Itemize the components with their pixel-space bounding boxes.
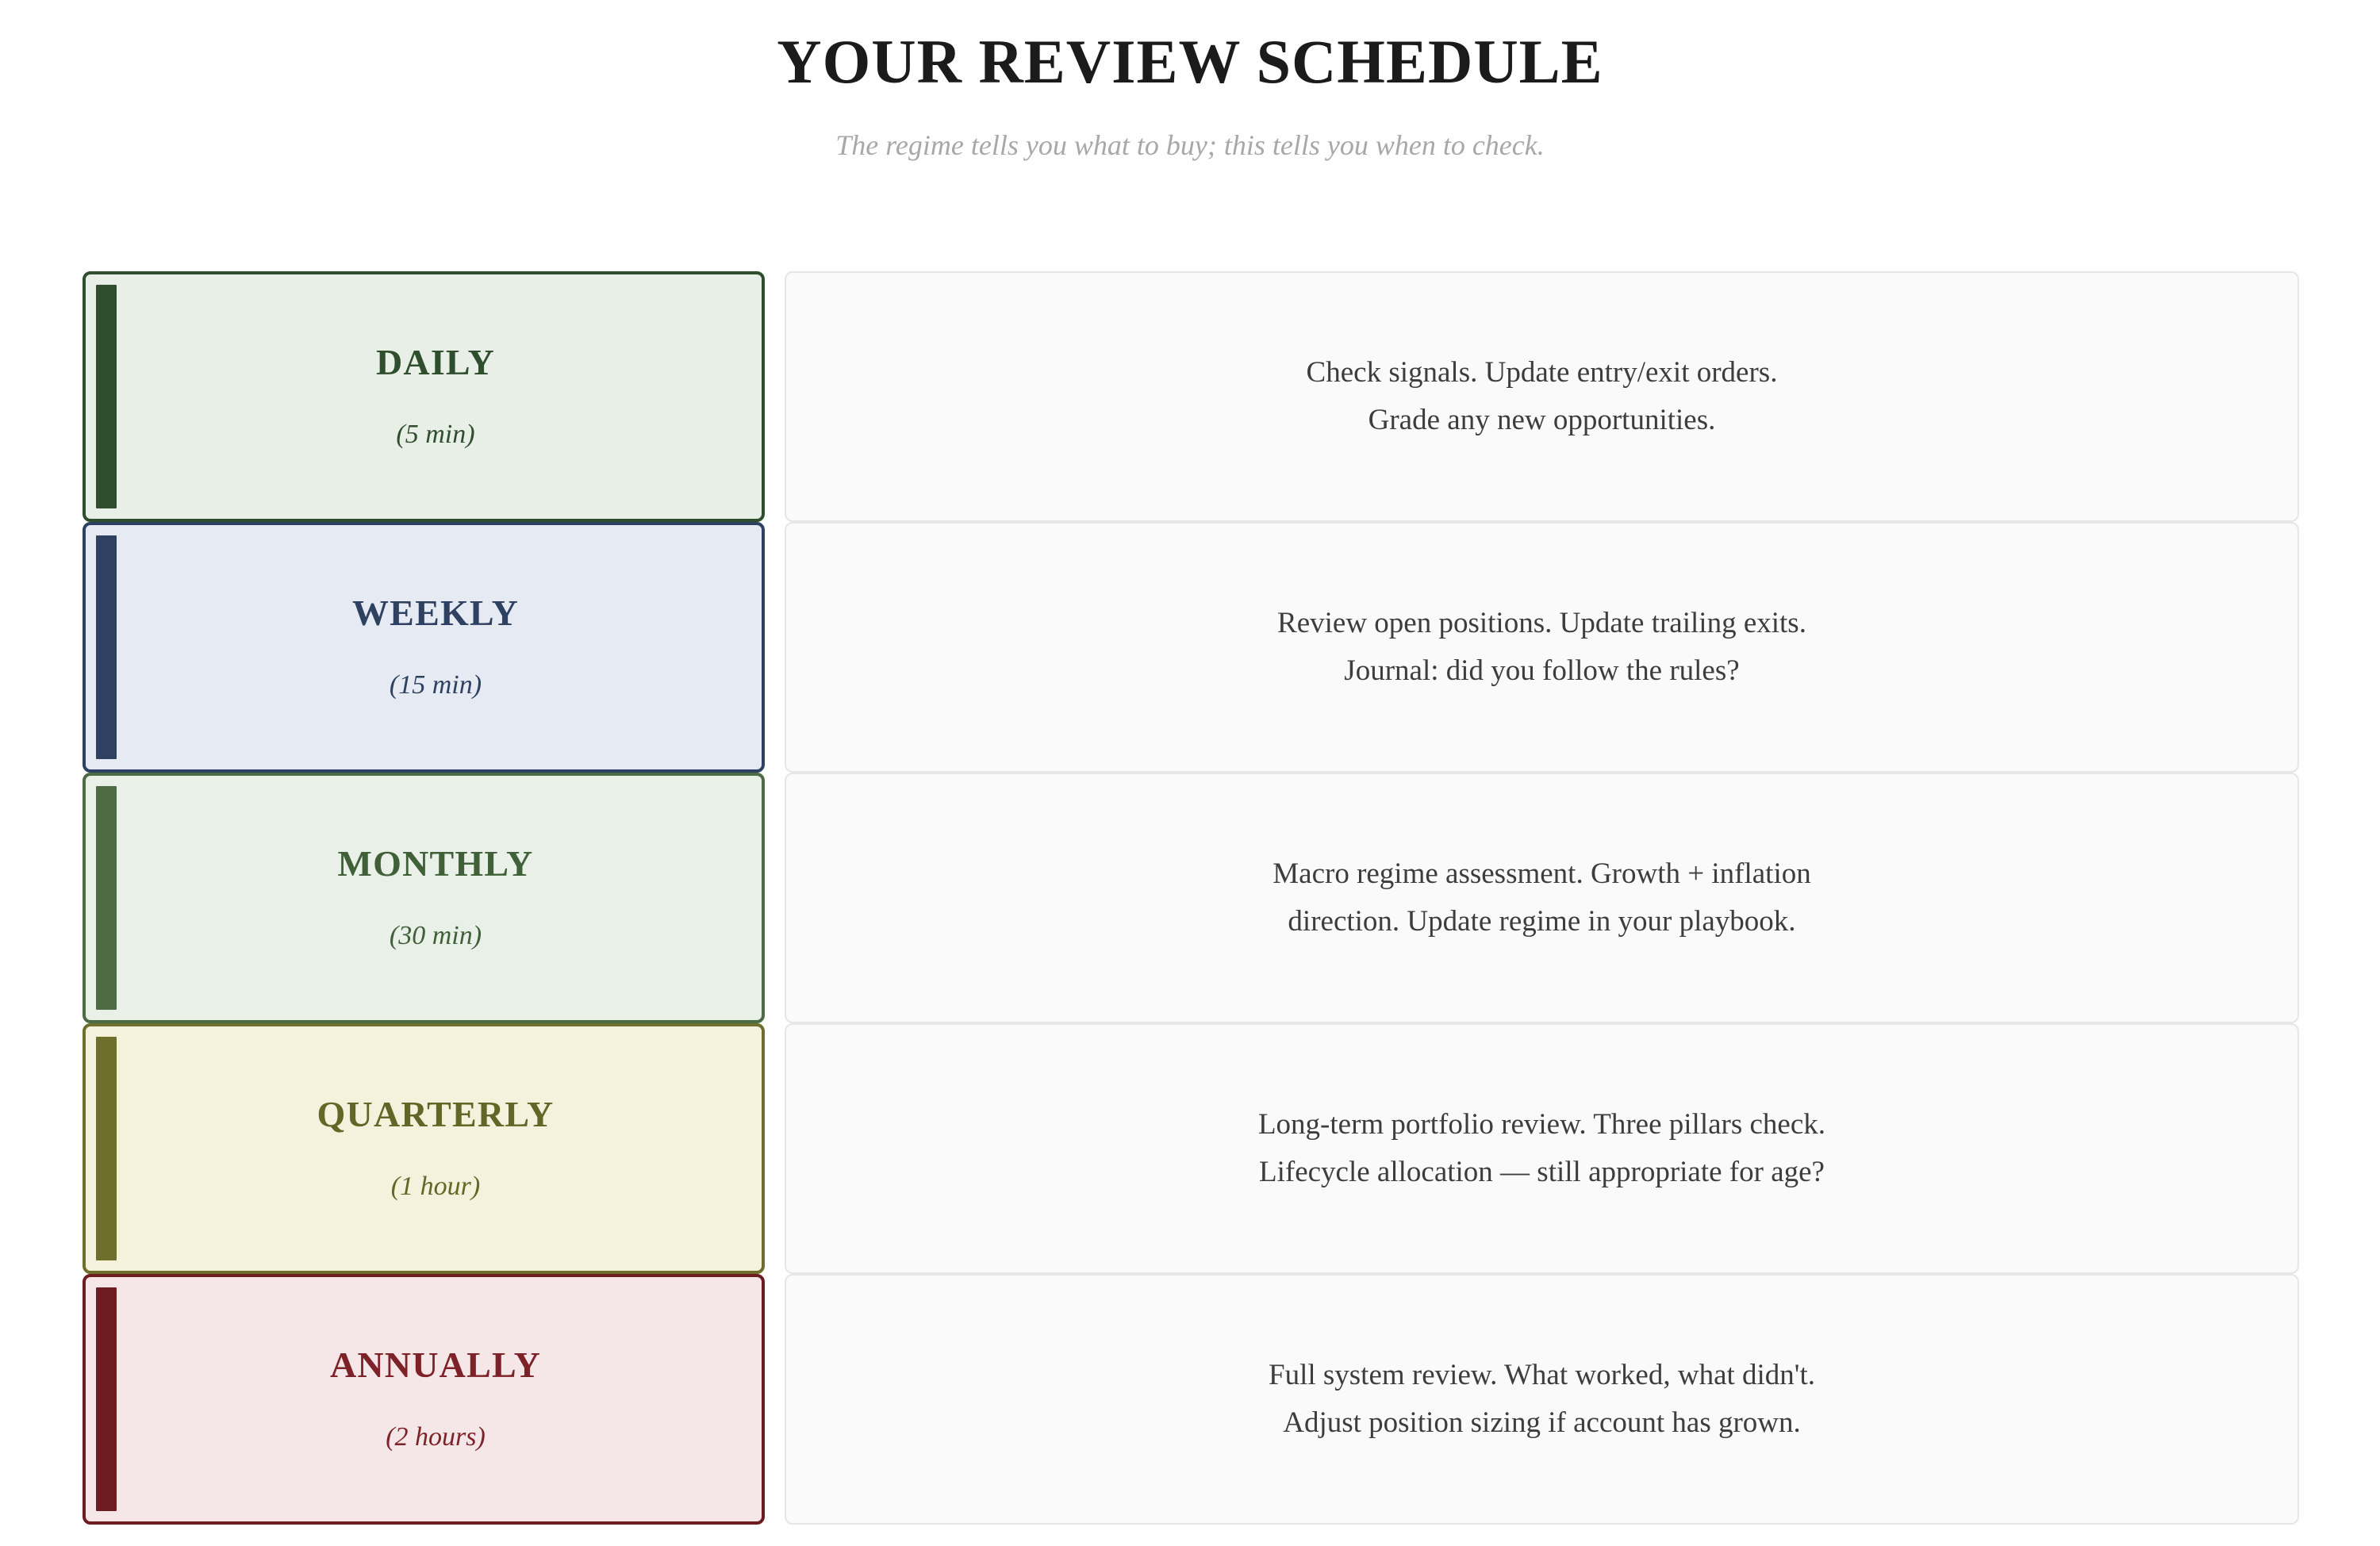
schedule-table: DAILY (5 min) Check signals. Update entr… xyxy=(83,271,2299,1525)
period-name: ANNUALLY xyxy=(330,1345,541,1387)
schedule-row: WEEKLY (15 min) Review open positions. U… xyxy=(83,522,2299,773)
detail-panel-quarterly: Long-term portfolio review. Three pillar… xyxy=(785,1023,2299,1274)
schedule-row: DAILY (5 min) Check signals. Update entr… xyxy=(83,271,2299,522)
detail-text: Full system review. What worked, what di… xyxy=(1269,1352,1815,1447)
page-header: YOUR REVIEW SCHEDULE The regime tells yo… xyxy=(0,0,2380,163)
accent-bar-icon xyxy=(96,1287,117,1511)
detail-line-2: Adjust position sizing if account has gr… xyxy=(1283,1406,1801,1439)
detail-line-1: Long-term portfolio review. Three pillar… xyxy=(1258,1108,1825,1141)
period-name: QUARTERLY xyxy=(317,1094,555,1136)
accent-bar-icon xyxy=(96,535,117,759)
period-card-quarterly[interactable]: QUARTERLY (1 hour) xyxy=(83,1023,765,1274)
period-duration: (30 min) xyxy=(390,920,482,953)
period-duration: (15 min) xyxy=(390,669,482,702)
accent-bar-icon xyxy=(96,285,117,508)
period-duration: (1 hour) xyxy=(391,1171,480,1203)
detail-line-2: direction. Update regime in your playboo… xyxy=(1288,905,1795,938)
detail-text: Long-term portfolio review. Three pillar… xyxy=(1258,1101,1825,1196)
detail-line-2: Journal: did you follow the rules? xyxy=(1344,654,1739,687)
detail-panel-daily: Check signals. Update entry/exit orders.… xyxy=(785,271,2299,522)
detail-text: Review open positions. Update trailing e… xyxy=(1277,600,1806,695)
period-name: WEEKLY xyxy=(352,593,519,635)
detail-line-1: Review open positions. Update trailing e… xyxy=(1277,607,1806,639)
review-schedule-page: YOUR REVIEW SCHEDULE The regime tells yo… xyxy=(0,0,2380,1546)
accent-bar-icon xyxy=(96,1037,117,1260)
period-name: MONTHLY xyxy=(338,843,534,885)
detail-line-2: Lifecycle allocation — still appropriate… xyxy=(1259,1156,1825,1188)
detail-line-2: Grade any new opportunities. xyxy=(1368,404,1716,436)
detail-line-1: Check signals. Update entry/exit orders. xyxy=(1307,356,1778,389)
period-duration: (2 hours) xyxy=(386,1421,486,1454)
schedule-row: ANNUALLY (2 hours) Full system review. W… xyxy=(83,1274,2299,1525)
period-card-daily[interactable]: DAILY (5 min) xyxy=(83,271,765,522)
page-subtitle: The regime tells you what to buy; this t… xyxy=(0,129,2380,163)
detail-line-1: Full system review. What worked, what di… xyxy=(1269,1359,1815,1391)
detail-panel-weekly: Review open positions. Update trailing e… xyxy=(785,522,2299,773)
schedule-row: MONTHLY (30 min) Macro regime assessment… xyxy=(83,773,2299,1023)
detail-text: Macro regime assessment. Growth + inflat… xyxy=(1273,850,1810,946)
period-card-weekly[interactable]: WEEKLY (15 min) xyxy=(83,522,765,773)
detail-line-1: Macro regime assessment. Growth + inflat… xyxy=(1273,857,1810,890)
detail-panel-annually: Full system review. What worked, what di… xyxy=(785,1274,2299,1525)
period-duration: (5 min) xyxy=(396,419,474,451)
detail-panel-monthly: Macro regime assessment. Growth + inflat… xyxy=(785,773,2299,1023)
accent-bar-icon xyxy=(96,786,117,1010)
period-card-annually[interactable]: ANNUALLY (2 hours) xyxy=(83,1274,765,1525)
page-title: YOUR REVIEW SCHEDULE xyxy=(0,25,2380,98)
detail-text: Check signals. Update entry/exit orders.… xyxy=(1307,349,1778,444)
period-card-monthly[interactable]: MONTHLY (30 min) xyxy=(83,773,765,1023)
schedule-row: QUARTERLY (1 hour) Long-term portfolio r… xyxy=(83,1023,2299,1274)
period-name: DAILY xyxy=(376,342,495,384)
